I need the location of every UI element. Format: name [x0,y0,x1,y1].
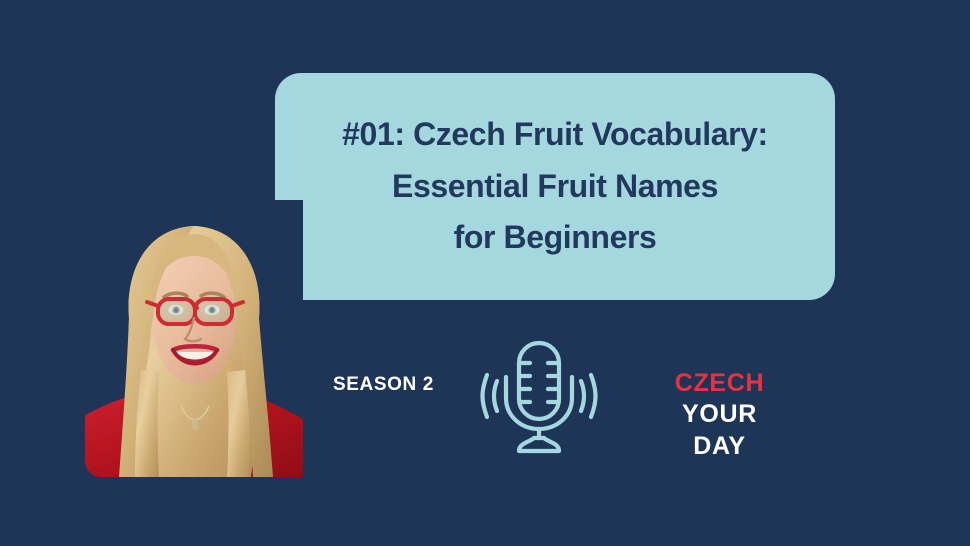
podcast-episode-cover: #01: Czech Fruit Vocabulary: Essential F… [0,0,970,546]
host-portrait [85,200,303,477]
brand-logo: CZECH YOUR DAY [652,368,787,462]
season-label: SEASON 2 [333,374,434,396]
episode-title-card: #01: Czech Fruit Vocabulary: Essential F… [275,73,835,300]
brand-name-top: CZECH [652,368,787,399]
episode-title-line-3: for Beginners [454,212,657,264]
episode-title-line-1: #01: Czech Fruit Vocabulary: [342,109,768,161]
brand-name-bottom: YOUR DAY [652,399,787,462]
episode-title-line-2: Essential Fruit Names [392,161,718,213]
host-portrait-photo [85,200,303,477]
podcast-microphone-icon [478,337,600,454]
